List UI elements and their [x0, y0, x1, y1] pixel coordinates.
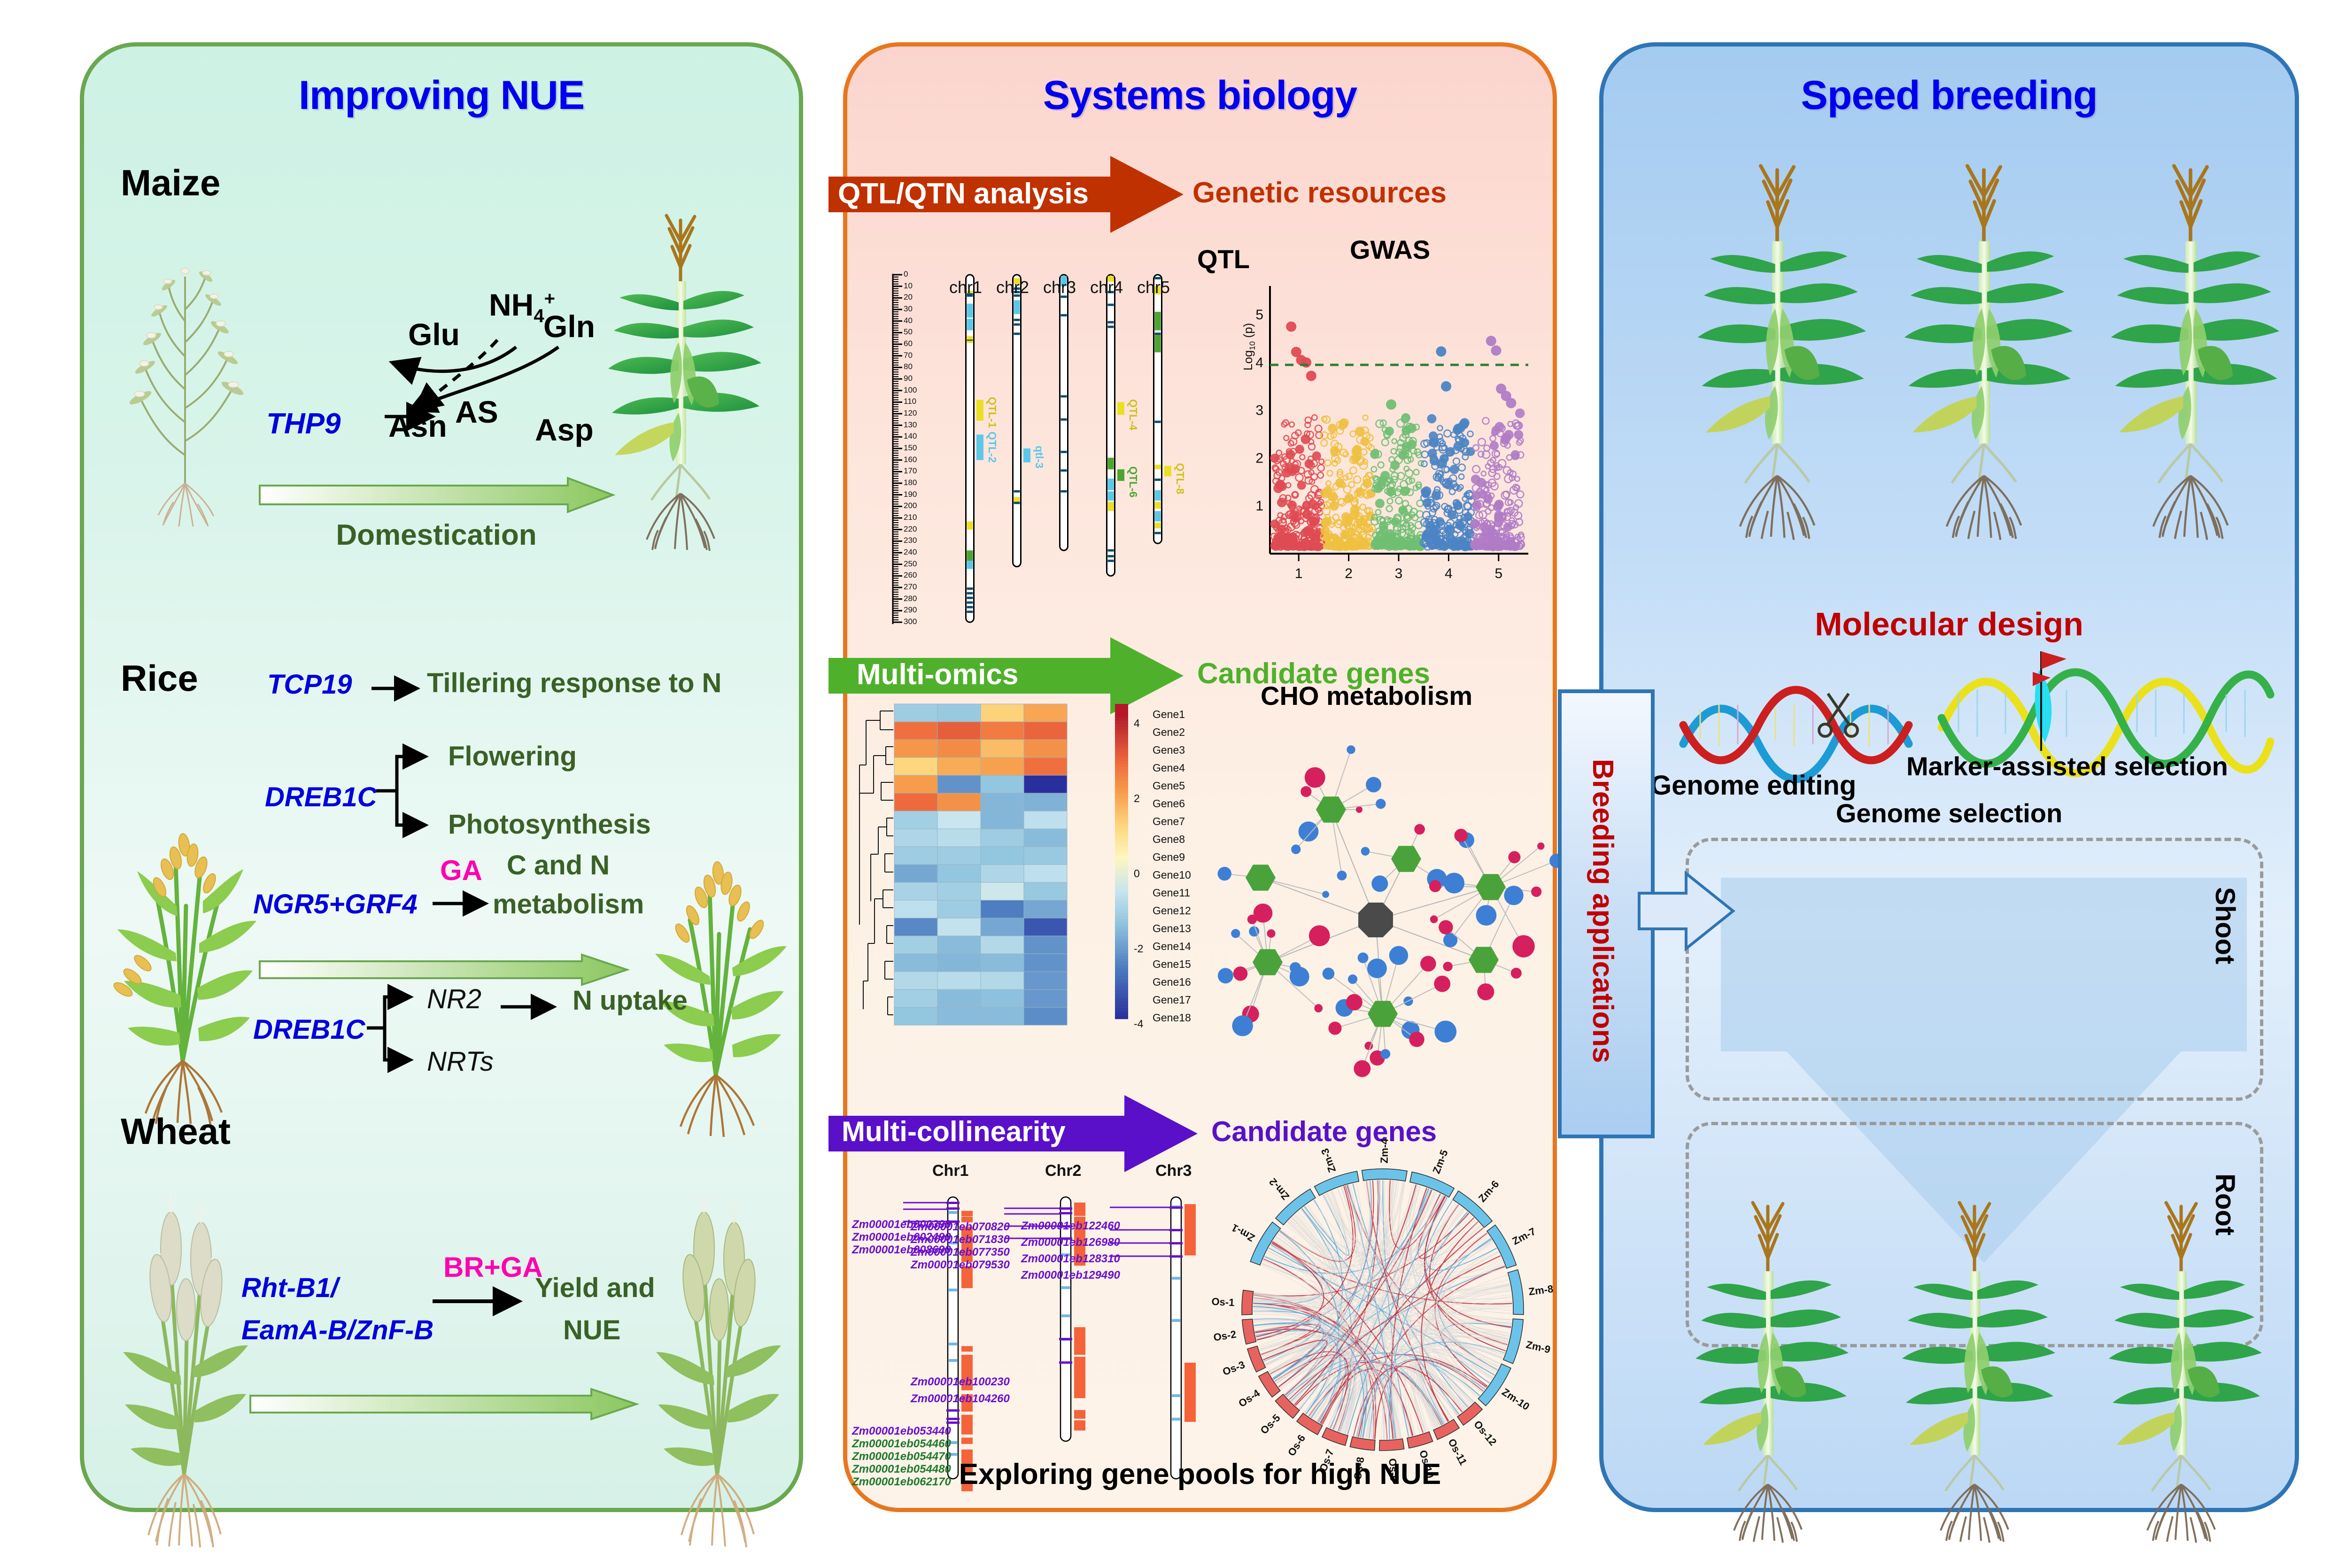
qtl-ruler-tick: 200 — [904, 501, 917, 510]
collinearity-gene-label: Zm00001eb077350 — [911, 1246, 1010, 1259]
collinearity-gene-label: Zm00001eb128310 — [1021, 1252, 1120, 1266]
qtl-ruler-tick: 170 — [904, 466, 917, 476]
gene-dreb1c-1: DREB1C — [265, 781, 377, 813]
multi-omics-label: Multi-omics — [857, 658, 1018, 691]
svg-text:1: 1 — [1255, 498, 1263, 514]
qtl-ruler-tick: 20 — [904, 293, 913, 302]
qtl-ruler-tick: 120 — [904, 409, 917, 418]
qtl-region-label: QTL-8 — [1174, 463, 1186, 494]
hormone-br-ga: BR+GA — [443, 1251, 543, 1283]
crop-label-rice: Rice — [121, 657, 198, 700]
wheat-plant-right-illustration — [638, 1174, 798, 1559]
panel-title-nue: Improving NUE — [84, 72, 799, 119]
wheat-improvement-arrow — [248, 1387, 638, 1421]
metabolite-gln: Gln — [543, 309, 595, 344]
rice-target-n-uptake: N uptake — [573, 985, 688, 1016]
panel-title-speed: Speed breeding — [1603, 72, 2295, 119]
qtl-ruler-tick: 100 — [904, 386, 917, 395]
collinearity-gene-label: Zm00001eb071830 — [911, 1233, 1010, 1246]
rice-target-c-and-n: C and N — [507, 850, 610, 881]
circos-segment-label: Os-1 — [1211, 1296, 1235, 1309]
arrow-tcp19 — [371, 678, 422, 699]
collinearity-gene-label: Zm00001eb122460 — [1021, 1220, 1120, 1233]
qtl-ruler-tick: 30 — [904, 304, 913, 314]
svg-text:5: 5 — [1255, 307, 1263, 323]
molecular-design-title: Molecular design — [1603, 605, 2295, 643]
collinearity-chr-name: Chr1 — [932, 1162, 968, 1180]
qtl-ruler-tick: 140 — [904, 432, 917, 441]
svg-text:1: 1 — [1295, 566, 1303, 581]
shoot-gene-box — [1686, 838, 2263, 1101]
collinearity-chr-name: Chr3 — [1155, 1162, 1192, 1180]
gwas-y-axis-label: Log10 (p) — [1241, 323, 1257, 371]
qtl-ruler-tick: 160 — [904, 455, 917, 464]
rice-target-metabolism: metabolism — [493, 888, 644, 920]
collinearity-gene-label: Zm00001eb104260 — [911, 1392, 1010, 1406]
collinearity-gene-label: Zm00001eb070820 — [911, 1220, 1010, 1234]
qtl-ruler-tick: 180 — [904, 478, 917, 487]
crop-label-wheat: Wheat — [121, 1110, 231, 1153]
heatmap-colorbar-tick: 0 — [1134, 867, 1140, 880]
heatmap-colorbar-tick: 2 — [1134, 792, 1140, 805]
rice-branch-nr2: NR2 — [427, 983, 481, 1015]
svg-text:4: 4 — [1445, 566, 1453, 581]
arrow-wheat-yield — [432, 1289, 526, 1314]
collinearity-gene-label: Zm00001eb100230 — [911, 1375, 1010, 1389]
heatmap-row-label: Gene1 — [1153, 708, 1185, 721]
circos-segment-label: Zm-4 — [1378, 1139, 1391, 1164]
gene-rht-b1: Rht-B1/ — [241, 1272, 338, 1304]
heatmap-colorbar-tick: 4 — [1134, 717, 1140, 730]
svg-text:5: 5 — [1494, 566, 1502, 581]
qtl-ruler-tick: 240 — [904, 548, 917, 557]
qtl-ruler-tick: 290 — [904, 605, 917, 615]
qtl-chr-name: chr3 — [1043, 278, 1076, 297]
genetic-resources-label: Genetic resources — [1192, 176, 1447, 209]
mas-label: Marker-assisted selection — [1906, 751, 2228, 781]
heatmap-colorbar-tick: -2 — [1134, 942, 1143, 955]
speed-breeding-top-maize-row — [1632, 154, 2270, 568]
metabolite-asp: Asp — [535, 412, 594, 448]
domestication-arrow — [258, 476, 615, 514]
breeding-applications-label-wrap: Breeding applications — [1564, 700, 1641, 1122]
collinearity-gene-label: Zm00001eb129490 — [1021, 1269, 1120, 1282]
qtl-ruler-tick: 300 — [904, 617, 917, 626]
rice-improvement-arrow — [258, 953, 629, 987]
panel-speed-breeding: Speed breeding Molecular design Genome e… — [1599, 42, 2299, 1512]
wheat-target-nue: NUE — [563, 1314, 620, 1346]
collinearity-gene-label: Zm00001eb126980 — [1021, 1236, 1120, 1249]
arrow-n-uptake — [500, 995, 561, 1019]
multi-collinearity-label: Multi-collinearity — [842, 1115, 1066, 1148]
rice-target-photosynthesis: Photosynthesis — [448, 809, 651, 840]
wheat-plant-left-illustration — [105, 1174, 265, 1559]
qtl-ruler-tick: 130 — [904, 420, 917, 430]
panel-improving-nue: Improving NUE Maize — [80, 42, 803, 1512]
qtl-chr-name: chr5 — [1137, 278, 1170, 297]
gene-dreb1c-2: DREB1C — [253, 1014, 365, 1045]
gene-thp9: THP9 — [266, 407, 341, 440]
qtl-ruler-tick: 80 — [904, 362, 913, 371]
qtl-region-label: QTL-4 — [1127, 399, 1139, 430]
qtl-ruler-tick: 50 — [904, 327, 913, 337]
qtl-ruler-tick: 250 — [904, 559, 917, 569]
shoot-section-label: Shoot — [2209, 887, 2241, 964]
svg-text:3: 3 — [1255, 403, 1263, 418]
qtl-ruler-tick: 150 — [904, 443, 917, 453]
svg-text:3: 3 — [1395, 566, 1403, 581]
breeding-applications-arrowhead — [1639, 864, 1742, 958]
wheat-target-yield: Yield and — [535, 1272, 655, 1304]
qtl-ruler-tick: 0 — [904, 270, 908, 279]
qtl-chr-name: chr1 — [949, 278, 982, 297]
qtl-ruler-tick: 260 — [904, 571, 917, 580]
collinearity-chr-name: Chr2 — [1045, 1162, 1081, 1180]
collinearity-gene-label: Zm00001eb054460 — [852, 1437, 951, 1451]
improved-rice-plant-illustration — [643, 765, 793, 1141]
candidate-genes-label-2: Candidate genes — [1211, 1115, 1437, 1148]
qtl-ruler-tick: 280 — [904, 594, 917, 603]
metabolite-asn: Asn — [388, 408, 447, 444]
enzyme-as: AS — [455, 394, 498, 430]
breeding-applications-label: Breeding applications — [1586, 759, 1619, 1063]
qtl-ruler-tick: 270 — [904, 582, 917, 592]
qtl-ruler-tick: 90 — [904, 374, 913, 383]
genome-selection-label: Genome selection — [1603, 798, 2295, 828]
sysbio-footer: Exploring gene pools for high NUE — [847, 1458, 1553, 1491]
hormone-ga: GA — [440, 854, 482, 887]
qtl-ruler-tick: 190 — [904, 490, 917, 499]
rice-branch-nrts: NRTs — [427, 1046, 494, 1077]
qtl-region-label: QTL-2 — [986, 432, 999, 463]
expression-heatmap — [852, 699, 1153, 1056]
domestication-label: Domestication — [258, 518, 615, 552]
qtl-region-label: QTL-1 — [986, 397, 999, 428]
gwas-plot-title: GWAS — [1350, 234, 1430, 265]
collinearity-gene-label: Zm00001eb053440 — [852, 1425, 951, 1438]
qtl-chr-name: chr2 — [996, 278, 1029, 297]
speed-breeding-bottom-maize-row — [1632, 1192, 2270, 1568]
cho-metabolism-network — [1176, 723, 1547, 1094]
qtl-region-label: QTL-6 — [1127, 466, 1139, 497]
qtl-ruler-tick: 60 — [904, 339, 913, 348]
panel-systems-biology: Systems biology QTL/QTN analysis Genetic… — [843, 42, 1557, 1512]
svg-text:2: 2 — [1255, 450, 1263, 466]
branch-bracket-dreb1c-1 — [375, 746, 446, 835]
qtl-region-label: qtl-3 — [1033, 446, 1045, 469]
gwas-manhattan-plot: 1234512345 — [1237, 272, 1538, 601]
panel-title-sysbio: Systems biology — [847, 72, 1553, 119]
rice-target-tillering: Tillering response to N — [427, 667, 721, 699]
metabolite-glu: Glu — [408, 317, 460, 352]
branch-bracket-dreb1c-2 — [366, 986, 427, 1070]
qtl-ruler-tick: 110 — [904, 397, 916, 406]
wild-maize-plant-illustration — [108, 220, 263, 530]
gene-tcp19: TCP19 — [267, 669, 352, 700]
qtl-ruler-tick: 70 — [904, 351, 913, 360]
heatmap-colorbar-tick: -4 — [1134, 1018, 1143, 1030]
rice-target-flowering: Flowering — [448, 741, 577, 772]
collinearity-gene-label: Zm00001eb079530 — [911, 1259, 1010, 1272]
qtl-ruler-tick: 230 — [904, 536, 917, 545]
svg-text:2: 2 — [1345, 566, 1353, 581]
arrow-ngr5-ga — [432, 892, 493, 915]
gene-ngr5-grf4: NGR5+GRF4 — [253, 888, 418, 920]
qtl-ruler-tick: 220 — [904, 525, 917, 534]
qtl-ruler-tick: 40 — [904, 316, 913, 325]
circos-segment-label: Zm-8 — [1528, 1283, 1554, 1298]
genome-editing-label: Genome editing — [1650, 770, 1856, 801]
qtl-ruler-tick: 210 — [904, 513, 917, 522]
cho-metabolism-title: CHO metabolism — [1261, 680, 1472, 711]
qtl-qtn-analysis-label: QTL/QTN analysis — [838, 177, 1089, 210]
wild-rice-plant-illustration — [105, 732, 265, 1136]
qtl-chr-name: chr4 — [1090, 278, 1123, 297]
gene-eama-znf: EamA-B/ZnF-B — [241, 1314, 433, 1346]
qtl-ruler-tick: 10 — [904, 281, 913, 291]
crop-label-maize: Maize — [121, 162, 220, 204]
modern-maize-plant-illustration — [587, 201, 774, 558]
